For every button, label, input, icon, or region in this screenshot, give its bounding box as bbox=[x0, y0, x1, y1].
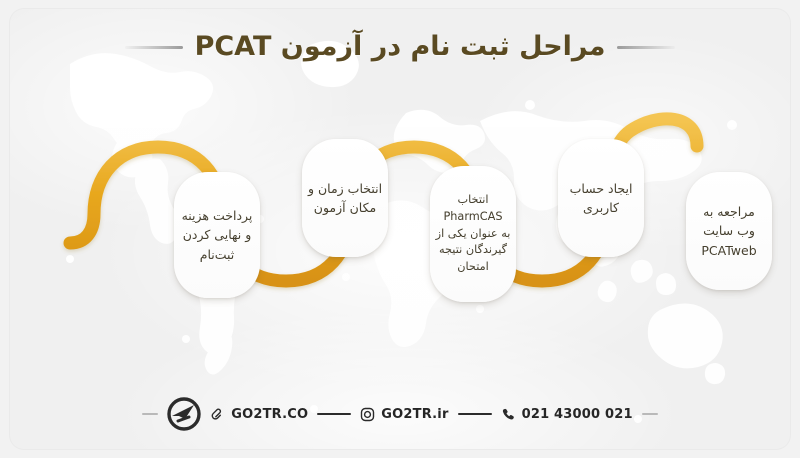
footer-instagram[interactable]: GO2TR.ir bbox=[360, 407, 448, 422]
step-label-1: مراجعه به وب سایت PCATweb bbox=[701, 202, 756, 260]
step-label-2: ایجاد حساب کاربری bbox=[570, 179, 633, 218]
footer-separator-2 bbox=[458, 413, 492, 415]
footer-phone[interactable]: 021 43000 021 bbox=[501, 407, 633, 422]
step-card-2[interactable]: ایجاد حساب کاربری bbox=[558, 139, 644, 257]
footer-instagram-text: GO2TR.ir bbox=[381, 407, 448, 422]
step-card-4[interactable]: انتخاب زمان و مکان آزمون bbox=[302, 139, 388, 257]
step-label-3: انتخاب PharmCAS به عنوان یکی از گیرندگان… bbox=[436, 192, 511, 277]
step-label-5: پرداخت هزینه و نهایی کردن ثبت‌نام bbox=[182, 206, 253, 264]
phone-icon bbox=[501, 407, 516, 422]
go2tr-logo bbox=[167, 397, 201, 431]
footer-contact-bar: GO2TR.CO GO2TR.ir 0 bbox=[10, 397, 790, 431]
step-card-5[interactable]: پرداخت هزینه و نهایی کردن ثبت‌نام bbox=[174, 172, 260, 298]
footer-website-text: GO2TR.CO bbox=[231, 407, 308, 422]
footer-website[interactable]: GO2TR.CO bbox=[210, 407, 308, 422]
footer-separator-1 bbox=[317, 413, 351, 415]
footer-rule-right-icon bbox=[642, 413, 658, 415]
step-card-3[interactable]: انتخاب PharmCAS به عنوان یکی از گیرندگان… bbox=[430, 166, 516, 302]
infographic-poster: مراحل ثبت نام در آزمون PCAT bbox=[0, 0, 800, 458]
footer-rule-left-icon bbox=[142, 413, 158, 415]
link-icon bbox=[210, 407, 225, 422]
gold-connector-ribbon bbox=[10, 9, 790, 449]
step-label-4: انتخاب زمان و مکان آزمون bbox=[308, 179, 382, 218]
poster-frame: مراحل ثبت نام در آزمون PCAT bbox=[10, 9, 790, 449]
step-card-1[interactable]: مراجعه به وب سایت PCATweb bbox=[686, 172, 772, 290]
footer-phone-text: 021 43000 021 bbox=[522, 407, 633, 422]
instagram-icon bbox=[360, 407, 375, 422]
steps-stage: مراجعه به وب سایت PCATweb ایجاد حساب کار… bbox=[10, 9, 790, 449]
